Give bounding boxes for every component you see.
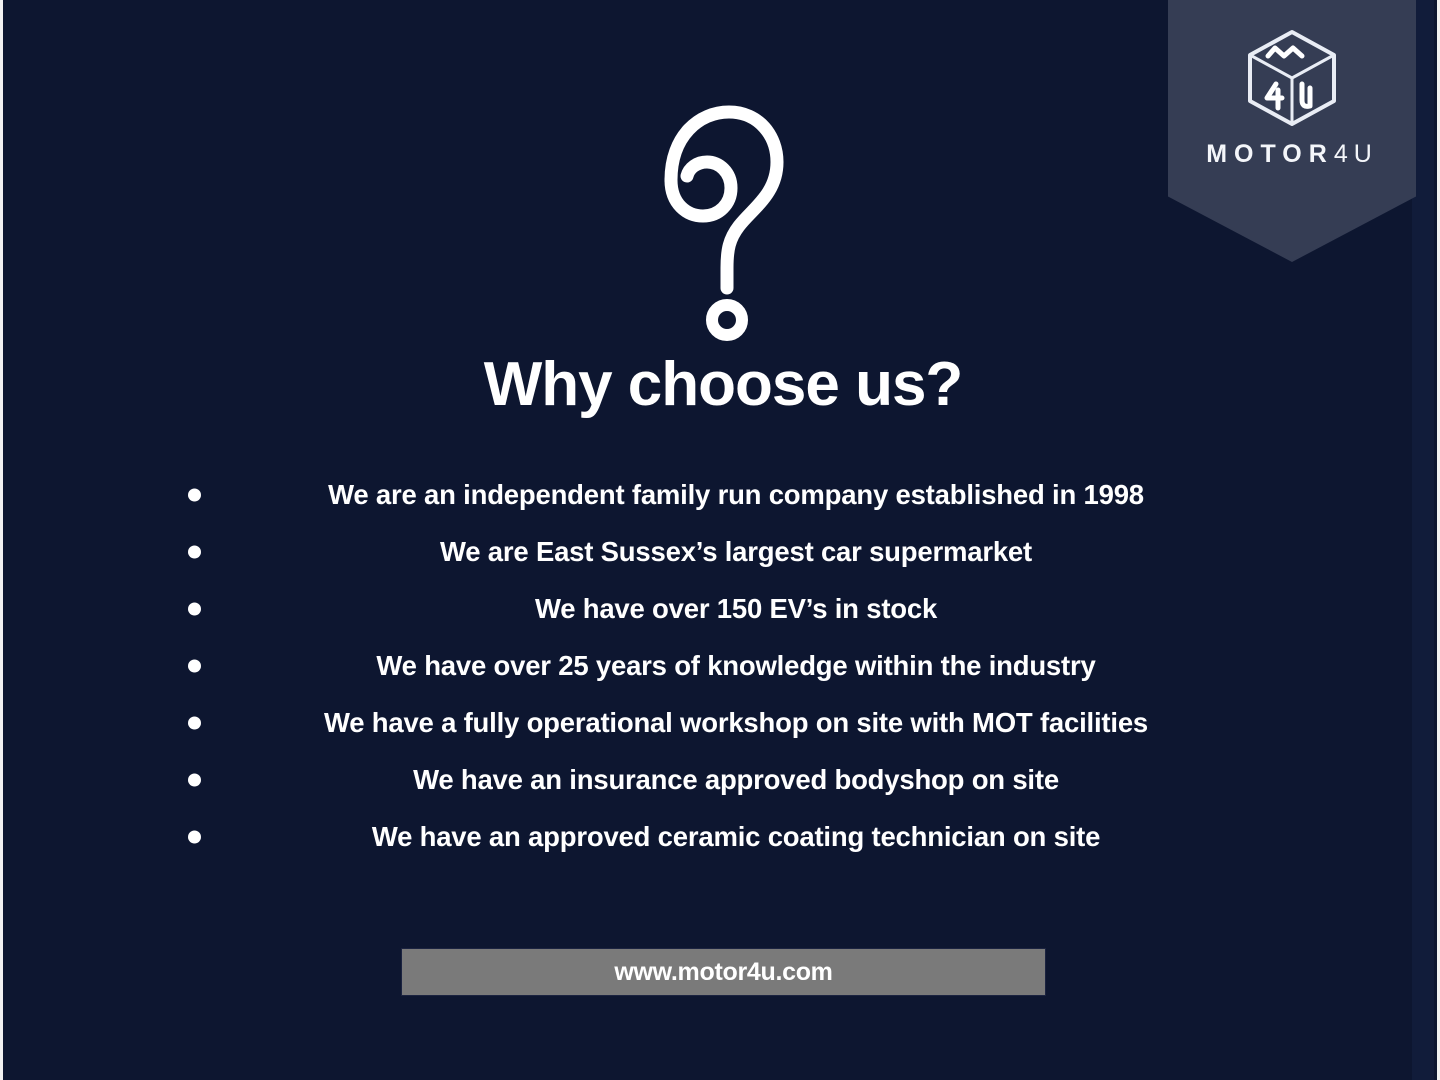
list-item-label: We have over 25 years of knowledge withi… [350, 650, 1095, 682]
bullet-dot-icon [188, 773, 201, 786]
bullet-dot-icon [188, 716, 201, 729]
promo-slide: MOTOR4U Why choose us? We are an indepen… [0, 0, 1440, 1080]
benefits-list: We are an independent family run company… [3, 466, 1440, 865]
list-item: We have over 25 years of knowledge withi… [3, 637, 1440, 694]
bullet-dot-icon [188, 488, 201, 501]
list-item-label: We are East Sussex’s largest car superma… [414, 536, 1032, 568]
list-item: We have over 150 EV’s in stock [3, 580, 1440, 637]
list-item-label: We have an approved ceramic coating tech… [346, 821, 1100, 853]
page-title: Why choose us? [3, 352, 1440, 417]
list-item-label: We have over 150 EV’s in stock [509, 593, 937, 625]
website-banner[interactable]: www.motor4u.com [401, 948, 1046, 996]
bullet-dot-icon [188, 602, 201, 615]
list-item-label: We have a fully operational workshop on … [298, 707, 1148, 739]
list-item-label: We are an independent family run company… [302, 479, 1144, 511]
list-item: We have a fully operational workshop on … [3, 694, 1440, 751]
bullet-dot-icon [188, 659, 201, 672]
list-item: We are East Sussex’s largest car superma… [3, 523, 1440, 580]
list-item: We have an insurance approved bodyshop o… [3, 751, 1440, 808]
list-item: We are an independent family run company… [3, 466, 1440, 523]
question-mark-icon [3, 92, 1440, 342]
bullet-dot-icon [188, 830, 201, 843]
list-item: We have an approved ceramic coating tech… [3, 808, 1440, 865]
website-url-label: www.motor4u.com [614, 958, 832, 987]
bullet-dot-icon [188, 545, 201, 558]
list-item-label: We have an insurance approved bodyshop o… [387, 764, 1059, 796]
